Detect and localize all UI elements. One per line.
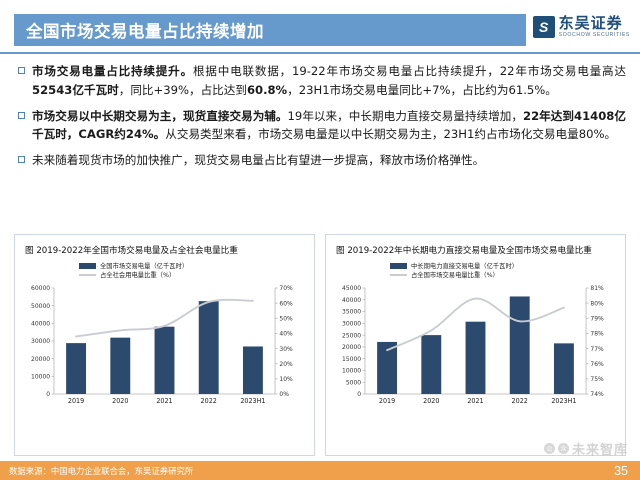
bar bbox=[421, 335, 441, 394]
y-tick-label-left: 35000 bbox=[342, 309, 361, 316]
y-tick-label-right: 74% bbox=[590, 391, 604, 398]
y-tick-label-right: 81% bbox=[590, 285, 604, 292]
bar bbox=[243, 346, 263, 394]
footer-page-number: 35 bbox=[614, 464, 628, 478]
y-tick-label-right: 76% bbox=[590, 361, 604, 368]
chart-legend: 中长期电力直接交易电量（亿千瓦时） 占全国市场交易电量比重（%） bbox=[390, 261, 619, 279]
y-tick-label-left: 20000 bbox=[342, 344, 361, 351]
bullet-segment: 60.8% bbox=[247, 83, 287, 97]
footer-bar: 数据来源：中国电力企业联合会，东吴证券研究所 35 bbox=[0, 461, 640, 480]
bullet-segment: 市场交易电量占比持续提升。 bbox=[32, 64, 193, 78]
chart-svg: 01000020000300004000050000600000%10%20%3… bbox=[21, 282, 308, 414]
square-bullet-icon bbox=[18, 156, 25, 163]
y-tick-label-right: 77% bbox=[590, 346, 604, 353]
legend-swatch-bar bbox=[390, 263, 407, 269]
legend-label-line: 占全国市场交易电量比重（%） bbox=[411, 270, 499, 279]
chart-card-right: 图 2019-2022年中长期电力直接交易电量及全国市场交易电量比重 中长期电力… bbox=[325, 234, 626, 456]
y-tick-label-right: 70% bbox=[279, 285, 293, 292]
y-tick-label-left: 30000 bbox=[31, 338, 50, 345]
watermark-dot-icon: 公 bbox=[544, 443, 555, 454]
bar bbox=[155, 327, 175, 394]
legend-label-line: 占全社会用电量比重（%） bbox=[100, 270, 175, 279]
watermark: 公 众 未来智库 bbox=[544, 439, 628, 458]
bullet-list: 市场交易电量占比持续提升。根据中电联数据，19-22年市场交易电量占比持续提升，… bbox=[18, 62, 626, 177]
chart-title: 图 2019-2022年全国市场交易电量及占全社会电量比重 bbox=[25, 244, 308, 256]
bar bbox=[554, 343, 574, 394]
y-tick-label-left: 15000 bbox=[342, 356, 361, 363]
bullet-segment: ，23H1市场交易电量同比+7%，占比约为61.5%。 bbox=[287, 83, 557, 97]
y-tick-label-left: 0 bbox=[46, 391, 50, 398]
x-tick-label: 2023H1 bbox=[240, 397, 265, 405]
y-tick-label-right: 0% bbox=[279, 391, 289, 398]
y-tick-label-left: 40000 bbox=[342, 297, 361, 304]
y-tick-label-left: 20000 bbox=[31, 356, 50, 363]
y-tick-label-left: 5000 bbox=[346, 379, 361, 386]
bullet-text: 市场交易电量占比持续提升。根据中电联数据，19-22年市场交易电量占比持续提升，… bbox=[32, 62, 626, 100]
bullet-item: 市场交易电量占比持续提升。根据中电联数据，19-22年市场交易电量占比持续提升，… bbox=[18, 62, 626, 100]
company-logo: S 东吴证券 SOOCHOW SECURITIES bbox=[533, 16, 630, 38]
x-tick-label: 2019 bbox=[379, 397, 395, 405]
bar bbox=[110, 338, 130, 394]
y-tick-label-right: 30% bbox=[279, 346, 293, 353]
chart-legend: 全国市场交易电量（亿千瓦时） 占全社会用电量比重（%） bbox=[79, 261, 308, 279]
bar bbox=[466, 322, 486, 394]
charts-row: 图 2019-2022年全国市场交易电量及占全社会电量比重 全国市场交易电量（亿… bbox=[14, 234, 626, 456]
bullet-segment: ，同比+39%，占比达到 bbox=[119, 83, 247, 97]
y-tick-label-right: 79% bbox=[590, 315, 604, 322]
y-tick-label-left: 0 bbox=[357, 391, 361, 398]
bullet-segment: 市场交易以中长期交易为主，现货直接交易为辅。 bbox=[32, 109, 288, 123]
bullet-segment: 未来随着现货市场的加快推广，现货交易电量占比有望进一步提高，释放市场价格弹性。 bbox=[32, 153, 484, 167]
legend-item-bar: 全国市场交易电量（亿千瓦时） bbox=[79, 261, 188, 270]
logo-text: 东吴证券 SOOCHOW SECURITIES bbox=[559, 16, 630, 38]
bar bbox=[199, 301, 219, 394]
legend-swatch-line bbox=[79, 274, 96, 276]
chart-title: 图 2019-2022年中长期电力直接交易电量及全国市场交易电量比重 bbox=[336, 244, 619, 256]
square-bullet-icon bbox=[18, 112, 25, 119]
bullet-segment: 从交易类型来看，市场交易电量是以中长期交易为主，23H1约占市场化交易电量80%… bbox=[165, 127, 616, 141]
y-tick-label-right: 75% bbox=[590, 376, 604, 383]
x-tick-label: 2021 bbox=[467, 397, 483, 405]
bullet-item: 市场交易以中长期交易为主，现货直接交易为辅。19年以来，中长期电力直接交易量持续… bbox=[18, 107, 626, 145]
y-tick-label-left: 40000 bbox=[31, 320, 50, 327]
legend-item-line: 占全国市场交易电量比重（%） bbox=[390, 270, 499, 279]
legend-label-bar: 中长期电力直接交易电量（亿千瓦时） bbox=[411, 261, 518, 270]
y-tick-label-right: 80% bbox=[590, 300, 604, 307]
y-tick-label-right: 60% bbox=[279, 300, 293, 307]
x-tick-label: 2022 bbox=[512, 397, 528, 405]
legend-swatch-line bbox=[390, 274, 407, 276]
watermark-dot-icon: 众 bbox=[558, 443, 569, 454]
logo-name-en: SOOCHOW SECURITIES bbox=[559, 33, 630, 38]
legend-item-line: 占全社会用电量比重（%） bbox=[79, 270, 175, 279]
x-tick-label: 2020 bbox=[112, 397, 128, 405]
y-tick-label-left: 30000 bbox=[342, 320, 361, 327]
footer-source: 数据来源：中国电力企业联合会，东吴证券研究所 bbox=[9, 465, 193, 477]
watermark-text: 未来智库 bbox=[572, 439, 628, 458]
bullet-segment: 52543亿千瓦时 bbox=[32, 83, 119, 97]
y-tick-label-right: 50% bbox=[279, 315, 293, 322]
y-tick-label-right: 10% bbox=[279, 376, 293, 383]
x-tick-label: 2019 bbox=[68, 397, 84, 405]
x-tick-label: 2021 bbox=[156, 397, 172, 405]
plot-area: 01000020000300004000050000600000%10%20%3… bbox=[21, 282, 308, 414]
bullet-segment: 根据中电联数据，19-22年市场交易电量占比持续提升，22年市场交易电量高达 bbox=[193, 64, 626, 78]
legend-swatch-bar bbox=[79, 263, 96, 269]
chart-card-left: 图 2019-2022年全国市场交易电量及占全社会电量比重 全国市场交易电量（亿… bbox=[14, 234, 315, 456]
legend-label-bar: 全国市场交易电量（亿千瓦时） bbox=[100, 261, 188, 270]
y-tick-label-left: 60000 bbox=[31, 285, 50, 292]
page-title: 全国市场交易电量占比持续增加 bbox=[26, 18, 264, 42]
bar bbox=[510, 296, 530, 394]
y-tick-label-left: 25000 bbox=[342, 332, 361, 339]
chart-svg: 0500010000150002000025000300003500040000… bbox=[332, 282, 619, 414]
x-tick-label: 2022 bbox=[201, 397, 217, 405]
logo-mark-icon: S bbox=[533, 16, 555, 38]
bullet-text: 未来随着现货市场的加快推广，现货交易电量占比有望进一步提高，释放市场价格弹性。 bbox=[32, 151, 484, 170]
bar bbox=[66, 343, 86, 394]
y-tick-label-right: 40% bbox=[279, 331, 293, 338]
logo-name-cn: 东吴证券 bbox=[559, 16, 630, 31]
header-divider bbox=[0, 52, 640, 54]
y-tick-label-left: 45000 bbox=[342, 285, 361, 292]
bullet-item: 未来随着现货市场的加快推广，现货交易电量占比有望进一步提高，释放市场价格弹性。 bbox=[18, 151, 626, 170]
slide-root: 全国市场交易电量占比持续增加 S 东吴证券 SOOCHOW SECURITIES… bbox=[0, 0, 640, 480]
y-tick-label-left: 50000 bbox=[31, 303, 50, 310]
plot-area: 0500010000150002000025000300003500040000… bbox=[332, 282, 619, 414]
bullet-segment: 19年以来，中长期电力直接交易量持续增加， bbox=[288, 109, 523, 123]
bullet-text: 市场交易以中长期交易为主，现货直接交易为辅。19年以来，中长期电力直接交易量持续… bbox=[32, 107, 626, 145]
x-tick-label: 2023H1 bbox=[551, 397, 576, 405]
header-title-bar: 全国市场交易电量占比持续增加 bbox=[14, 14, 526, 46]
legend-item-bar: 中长期电力直接交易电量（亿千瓦时） bbox=[390, 261, 518, 270]
y-tick-label-left: 10000 bbox=[31, 373, 50, 380]
y-tick-label-left: 10000 bbox=[342, 368, 361, 375]
x-tick-label: 2020 bbox=[423, 397, 439, 405]
square-bullet-icon bbox=[18, 67, 25, 74]
y-tick-label-right: 20% bbox=[279, 361, 293, 368]
y-tick-label-right: 78% bbox=[590, 331, 604, 338]
